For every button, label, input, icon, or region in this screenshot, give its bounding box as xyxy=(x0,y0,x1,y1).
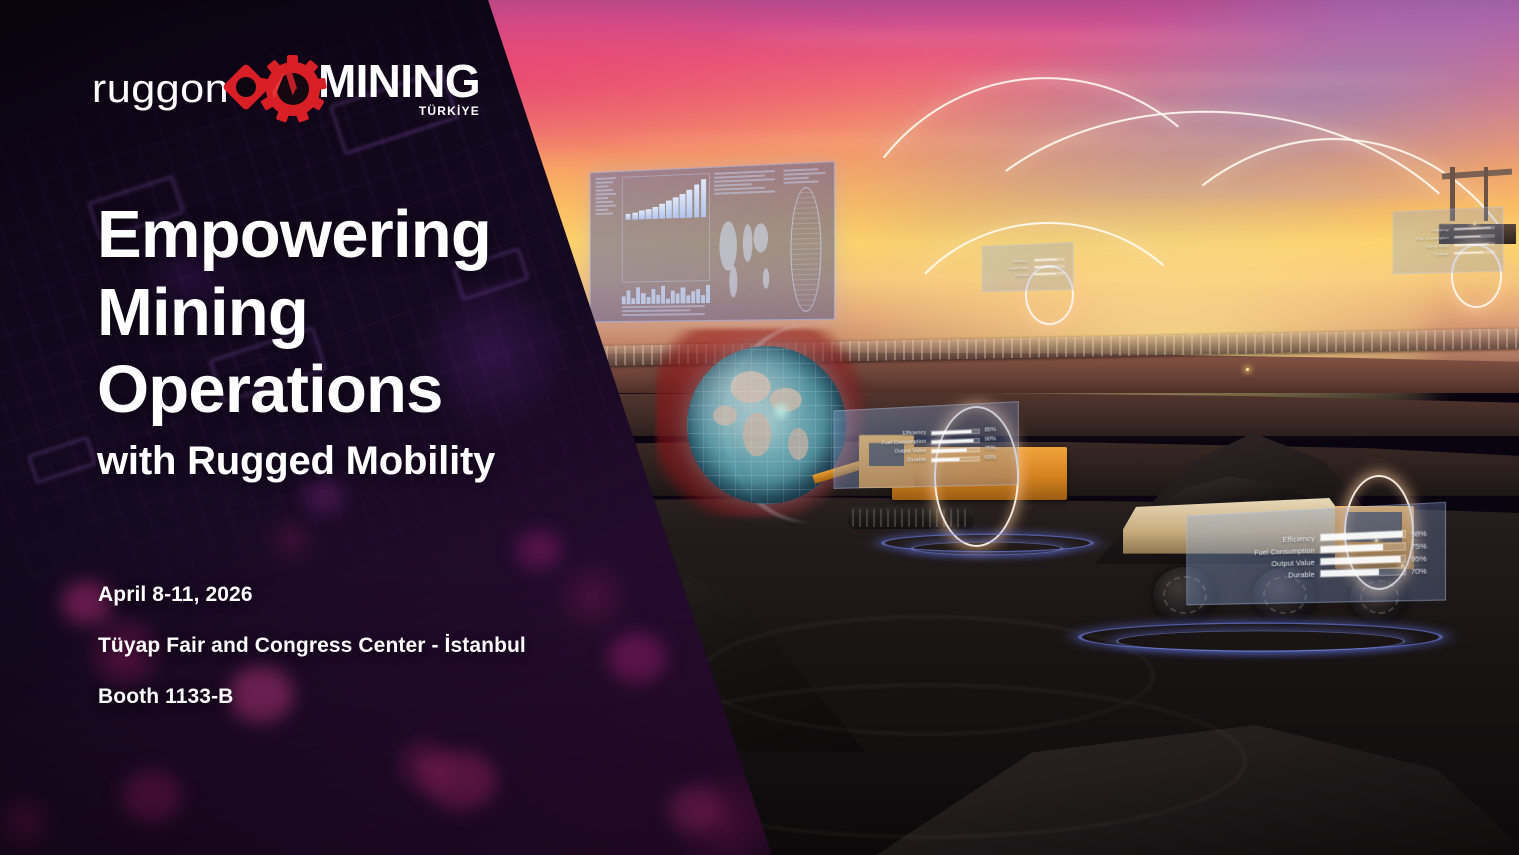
headline-line-2: Mining xyxy=(97,274,491,352)
mining-logo-text: MINING TÜRKİYE xyxy=(318,60,480,117)
ruggon-logo[interactable]: ruggon xyxy=(97,67,224,112)
mining-logo-name: MINING xyxy=(318,60,480,102)
page-subtitle: with Rugged Mobility xyxy=(97,437,495,485)
ruggon-wordmark: ruggon xyxy=(92,67,229,112)
event-details: April 8-11, 2026 Tüyap Fair and Congress… xyxy=(98,583,526,709)
mining-logo-subtitle: TÜRKİYE xyxy=(419,104,480,118)
event-venue: Tüyap Fair and Congress Center - İstanbu… xyxy=(98,634,526,658)
headline-line-3: Operations xyxy=(97,351,491,429)
page-title: Empowering Mining Operations xyxy=(97,196,491,429)
promotional-banner: Efficiency 98% Fuel Consumption 75% Outp… xyxy=(0,0,1519,855)
gear-excavator-icon xyxy=(260,56,326,122)
mining-turkiye-logo[interactable]: MINING TÜRKİYE xyxy=(260,56,480,122)
event-date: April 8-11, 2026 xyxy=(98,583,526,607)
banner-content: ruggon MINING xyxy=(0,0,1519,855)
headline-line-1: Empowering xyxy=(97,196,491,274)
logo-row: ruggon MINING xyxy=(97,56,480,122)
event-booth: Booth 1133-B xyxy=(98,685,526,709)
